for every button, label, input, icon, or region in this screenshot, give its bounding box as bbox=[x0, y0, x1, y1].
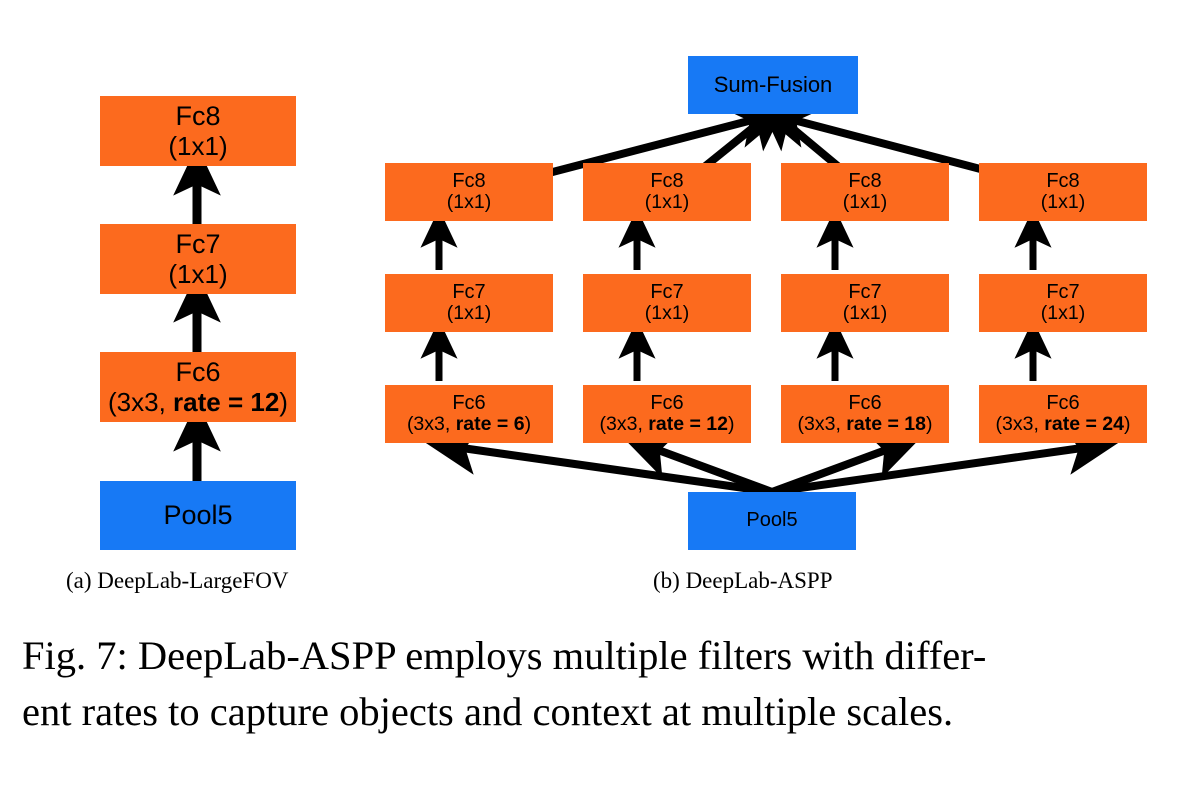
node-b4-fc6-title: Fc6 bbox=[1046, 393, 1079, 415]
node-b4-fc7-subtitle: (1x1) bbox=[1041, 303, 1085, 324]
node-b2-fc7-subtitle: (1x1) bbox=[645, 303, 689, 324]
node-b1-fc7[interactable]: Fc7 (1x1) bbox=[385, 274, 553, 332]
node-a-pool5-title: Pool5 bbox=[163, 501, 232, 530]
node-b-pool5-label: Pool5 bbox=[746, 510, 797, 532]
arrow-pool5-to-fc6-rate18 bbox=[772, 447, 894, 492]
node-b1-fc7-subtitle: (1x1) bbox=[447, 303, 491, 324]
figure-caption: Fig. 7: DeepLab-ASPP employs multiple fi… bbox=[22, 628, 1182, 740]
node-b4-fc8-subtitle: (1x1) bbox=[1041, 192, 1085, 213]
node-b1-fc8[interactable]: Fc8 (1x1) bbox=[385, 163, 553, 221]
node-b4-fc6[interactable]: Fc6 (3x3, rate = 24) bbox=[979, 385, 1147, 443]
node-b1-fc8-title: Fc8 bbox=[452, 171, 485, 193]
node-b4-fc8-title: Fc8 bbox=[1046, 171, 1079, 193]
node-b-pool5[interactable]: Pool5 bbox=[688, 492, 856, 550]
panel-b-arrows-fc6-fc7 bbox=[439, 342, 1033, 381]
node-b2-fc8-subtitle: (1x1) bbox=[645, 192, 689, 213]
node-b4-fc6-post: ) bbox=[1124, 413, 1131, 435]
node-a-fc6[interactable]: Fc6 (3x3, rate = 12) bbox=[100, 352, 296, 422]
figure-deeplab-aspp: Fc8 (1x1) Fc7 (1x1) Fc6 (3x3, rate = 12)… bbox=[0, 0, 1198, 786]
figure-caption-line-1: Fig. 7: DeepLab-ASPP employs multiple fi… bbox=[22, 628, 1182, 684]
node-b2-fc8[interactable]: Fc8 (1x1) bbox=[583, 163, 751, 221]
node-b1-fc6-pre: (3x3, bbox=[407, 413, 456, 435]
arrow-pool5-to-fc6-rate6 bbox=[455, 447, 772, 492]
node-b1-fc6[interactable]: Fc6 (3x3, rate = 6) bbox=[385, 385, 553, 443]
node-a-fc8-title: Fc8 bbox=[175, 102, 220, 131]
node-b3-fc8-subtitle: (1x1) bbox=[843, 192, 887, 213]
arrow-pool5-to-fc6-rate12 bbox=[650, 447, 772, 492]
node-b3-fc6[interactable]: Fc6 (3x3, rate = 18) bbox=[781, 385, 949, 443]
node-b3-fc6-pre: (3x3, bbox=[798, 413, 847, 435]
node-b2-fc7-title: Fc7 bbox=[650, 282, 683, 304]
node-a-pool5[interactable]: Pool5 bbox=[100, 481, 296, 550]
panel-b-fanout-pool5 bbox=[455, 447, 1089, 492]
node-a-fc6-title: Fc6 bbox=[175, 358, 220, 387]
node-a-fc7[interactable]: Fc7 (1x1) bbox=[100, 224, 296, 294]
subcaption-b: (b) DeepLab-ASPP bbox=[653, 568, 833, 594]
node-b1-fc6-rate: rate = 6 bbox=[456, 413, 525, 435]
node-b-sum-fusion-label: Sum-Fusion bbox=[714, 73, 833, 97]
node-b2-fc8-title: Fc8 bbox=[650, 171, 683, 193]
node-b-sum-fusion[interactable]: Sum-Fusion bbox=[688, 56, 858, 114]
node-b3-fc7[interactable]: Fc7 (1x1) bbox=[781, 274, 949, 332]
node-b4-fc6-subtitle: (3x3, rate = 24) bbox=[996, 414, 1131, 435]
node-b4-fc7-title: Fc7 bbox=[1046, 282, 1079, 304]
node-b3-fc8-title: Fc8 bbox=[848, 171, 881, 193]
node-a-fc6-subtitle: (3x3, rate = 12) bbox=[108, 388, 288, 416]
node-b1-fc7-title: Fc7 bbox=[452, 282, 485, 304]
node-b3-fc6-title: Fc6 bbox=[848, 393, 881, 415]
node-a-fc7-title: Fc7 bbox=[175, 230, 220, 259]
node-b2-fc6-post: ) bbox=[728, 413, 735, 435]
node-b2-fc6-pre: (3x3, bbox=[600, 413, 649, 435]
node-b2-fc6-subtitle: (3x3, rate = 12) bbox=[600, 414, 735, 435]
node-b4-fc6-rate: rate = 24 bbox=[1044, 413, 1124, 435]
node-b1-fc6-subtitle: (3x3, rate = 6) bbox=[407, 414, 531, 435]
node-b3-fc7-title: Fc7 bbox=[848, 282, 881, 304]
node-b4-fc6-pre: (3x3, bbox=[996, 413, 1045, 435]
panel-b-arrows-fc7-fc8 bbox=[439, 231, 1033, 270]
node-a-fc8-subtitle: (1x1) bbox=[168, 132, 227, 160]
node-b2-fc7[interactable]: Fc7 (1x1) bbox=[583, 274, 751, 332]
arrow-pool5-to-fc6-rate24 bbox=[772, 447, 1089, 492]
node-b2-fc6-title: Fc6 bbox=[650, 393, 683, 415]
node-a-fc7-subtitle: (1x1) bbox=[168, 260, 227, 288]
node-b1-fc6-title: Fc6 bbox=[452, 393, 485, 415]
figure-caption-line-2: ent rates to capture objects and context… bbox=[22, 684, 1182, 740]
node-b2-fc6[interactable]: Fc6 (3x3, rate = 12) bbox=[583, 385, 751, 443]
node-a-fc6-pre: (3x3, bbox=[108, 387, 173, 417]
node-b3-fc7-subtitle: (1x1) bbox=[843, 303, 887, 324]
node-b4-fc7[interactable]: Fc7 (1x1) bbox=[979, 274, 1147, 332]
subcaption-a: (a) DeepLab-LargeFOV bbox=[66, 568, 288, 594]
node-b3-fc6-rate: rate = 18 bbox=[846, 413, 926, 435]
node-b3-fc8[interactable]: Fc8 (1x1) bbox=[781, 163, 949, 221]
node-b2-fc6-rate: rate = 12 bbox=[648, 413, 728, 435]
node-b1-fc6-post: ) bbox=[525, 413, 532, 435]
node-a-fc6-rate: rate = 12 bbox=[173, 387, 279, 417]
node-a-fc8[interactable]: Fc8 (1x1) bbox=[100, 96, 296, 166]
node-b3-fc6-post: ) bbox=[926, 413, 933, 435]
node-a-fc6-post: ) bbox=[279, 387, 288, 417]
node-b4-fc8[interactable]: Fc8 (1x1) bbox=[979, 163, 1147, 221]
node-b1-fc8-subtitle: (1x1) bbox=[447, 192, 491, 213]
node-b3-fc6-subtitle: (3x3, rate = 18) bbox=[798, 414, 933, 435]
